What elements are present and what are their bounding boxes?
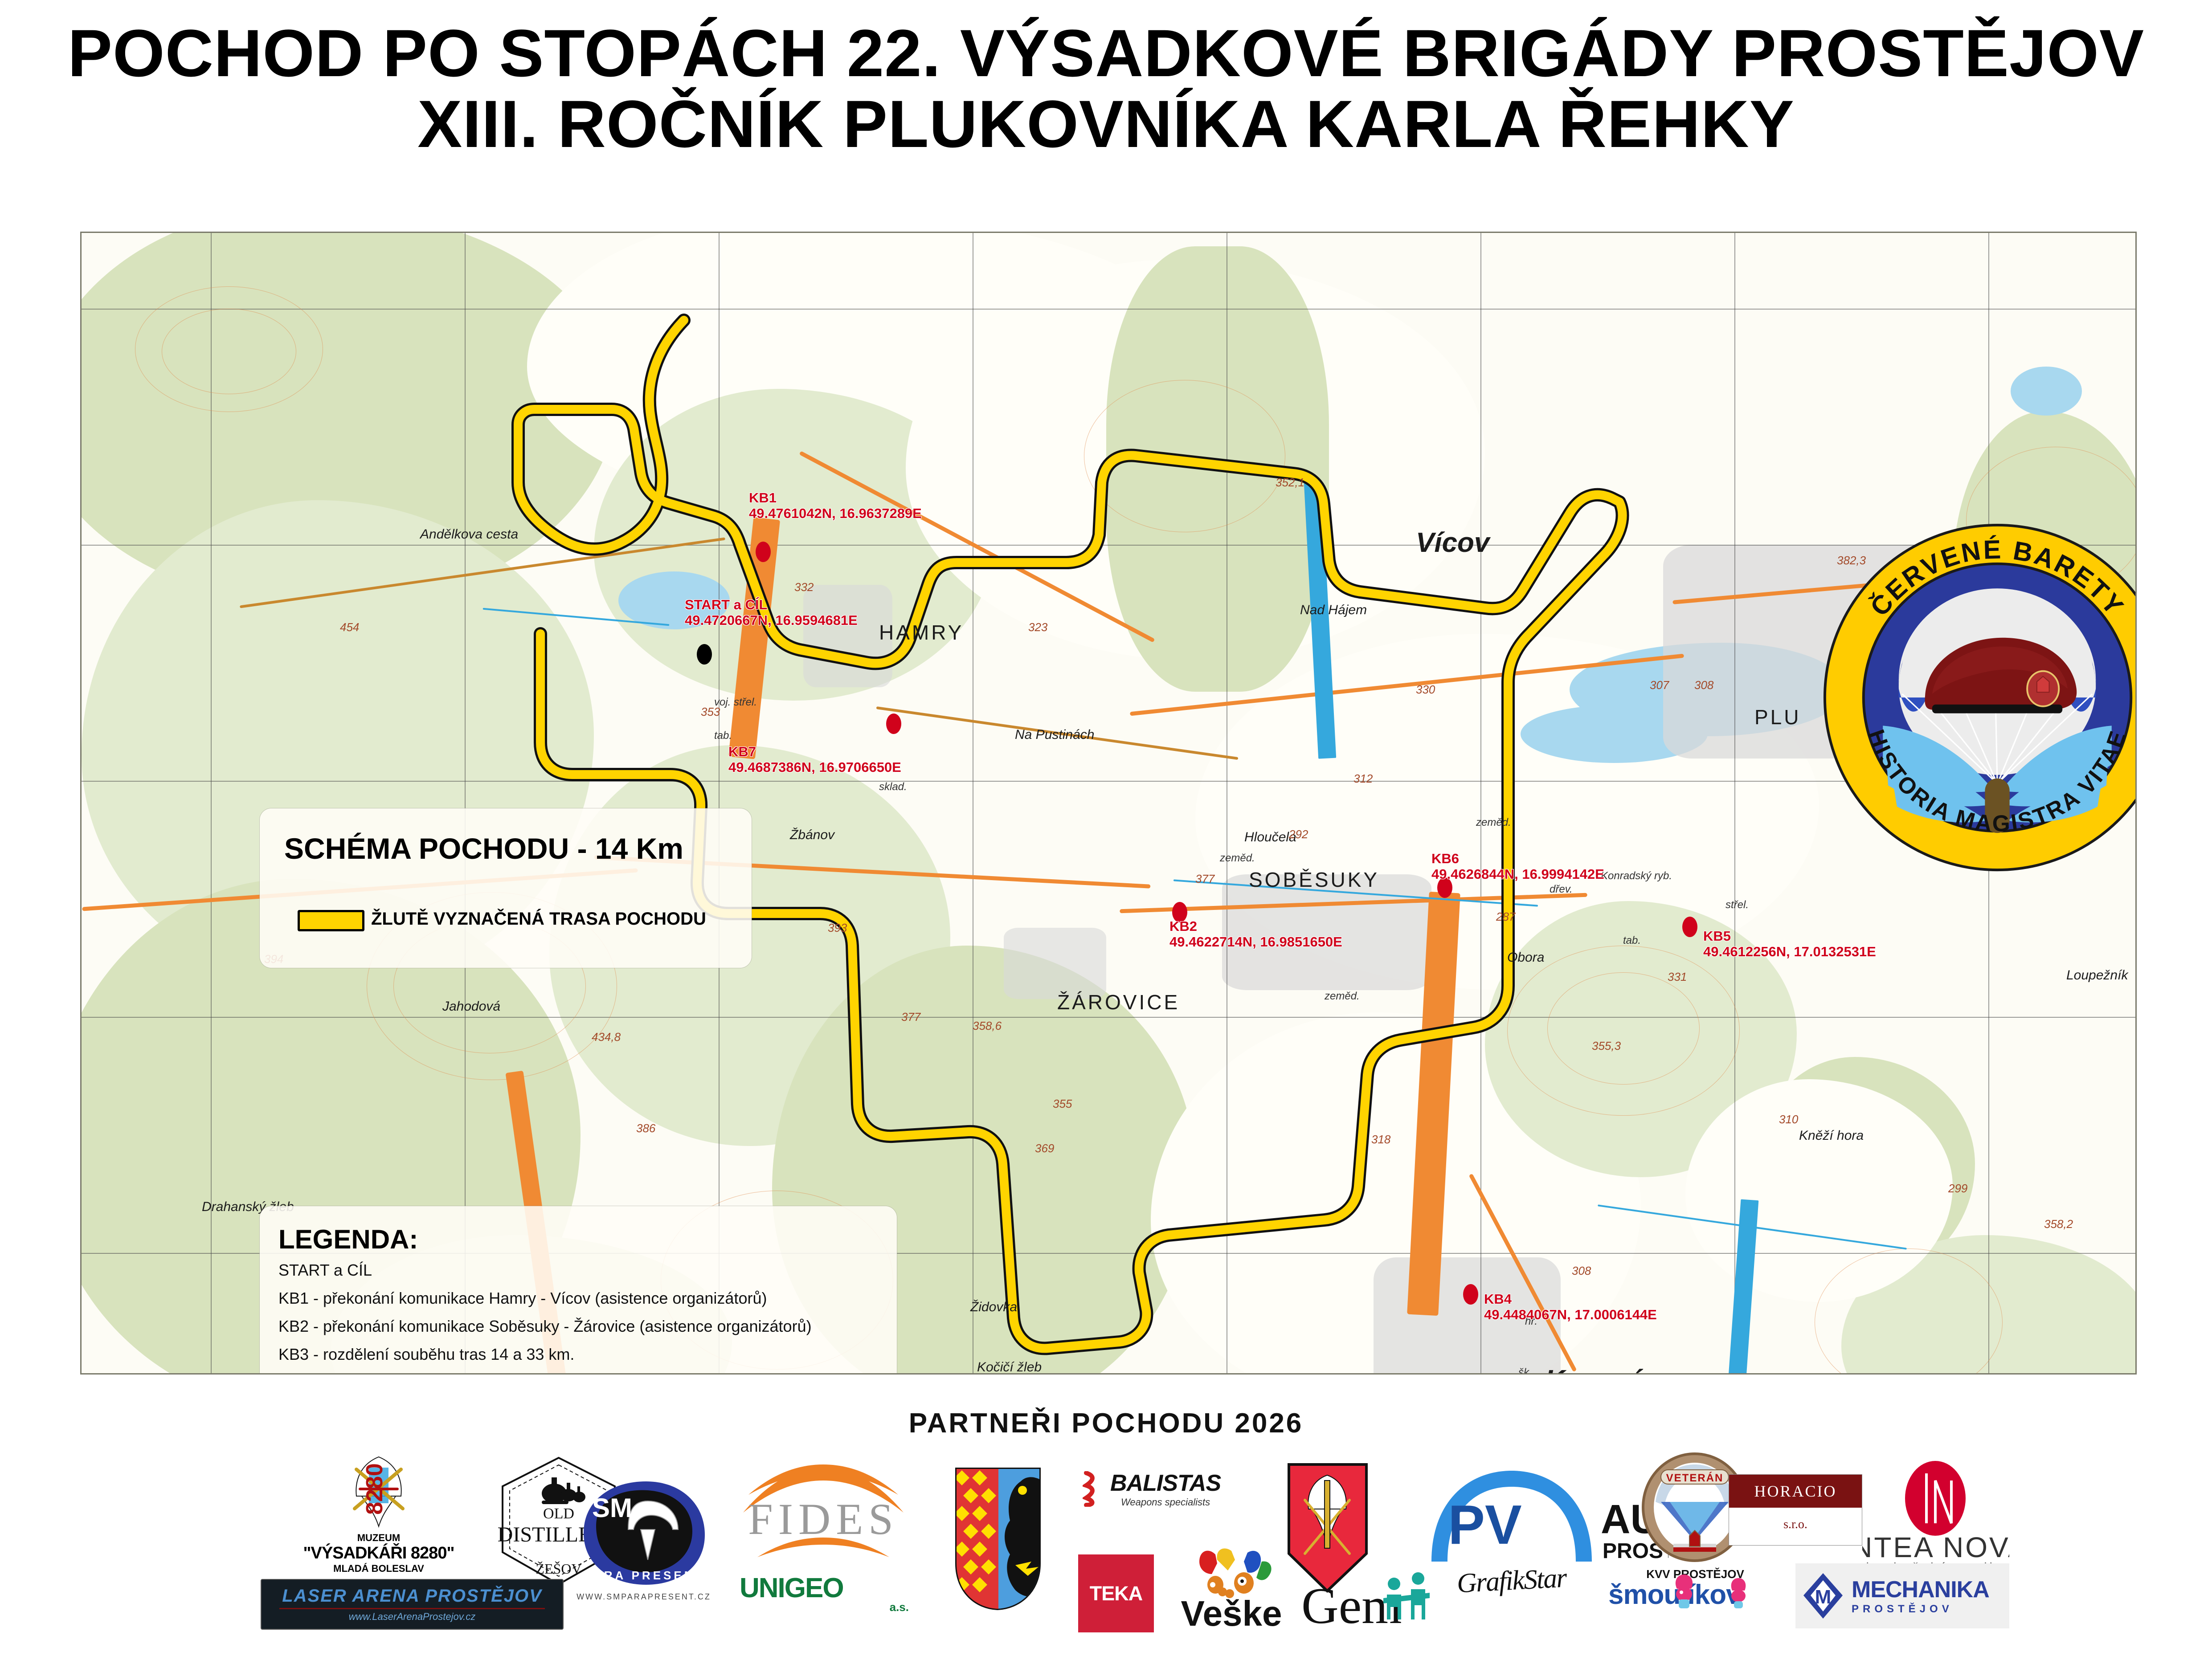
fides-wordmark: FIDES bbox=[748, 1494, 899, 1544]
map-village-label-2: SOBĚSUKY bbox=[1249, 868, 1379, 892]
waypoint-label-kb5: KB549.4612256N, 17.0132531E bbox=[1703, 929, 1876, 959]
map-elevation-16: 308 bbox=[1572, 1264, 1591, 1278]
map-elevation-12: 393 bbox=[828, 921, 847, 935]
smurf-icon-2 bbox=[1728, 1574, 1749, 1610]
cerveny-barety-logo: ČERVENÉ BARETY HISTORIA MAGISTRA VITAE bbox=[1821, 522, 2137, 873]
waypoint-label-kb7: KB749.4687386N, 16.9706650E bbox=[728, 744, 901, 775]
veteran-word: VETERÁN bbox=[1666, 1472, 1724, 1484]
waypoint-marker-start[interactable] bbox=[697, 644, 712, 665]
title-line-2: XIII. ROČNÍK PLUKOVNÍKA KARLA ŘEHKY bbox=[0, 89, 2212, 159]
map-elevation-2: 323 bbox=[1028, 620, 1047, 634]
waypoint-coords-kb6: 49.4626844N, 16.9994142E bbox=[1431, 867, 1604, 882]
svg-text:8280: 8280 bbox=[362, 1463, 388, 1515]
partner-logo-gemini[interactable]: Gem bbox=[1294, 1568, 1441, 1637]
map-feature-label-5: Loupežník bbox=[2066, 968, 2128, 983]
legend-list: START a CÍLKB1 - překonání komunikace Ha… bbox=[278, 1262, 884, 1375]
map-elevation-15: 407 bbox=[928, 1371, 947, 1375]
map-feature-label-31: šk. bbox=[1518, 1366, 1532, 1375]
mechanika-wordmark: MECHANIKA bbox=[1852, 1576, 1989, 1603]
sm-url: WWW.SMPARAPRESENT.CZ bbox=[566, 1592, 722, 1602]
waypoint-label-start: START a CÍL49.4720667N, 16.9594681E bbox=[685, 597, 858, 628]
map-elevation-33: 310 bbox=[1779, 1113, 1798, 1126]
waypoint-marker-kb4[interactable] bbox=[1463, 1284, 1478, 1305]
balistas-mark bbox=[1083, 1471, 1103, 1507]
map-feature-label-24: tab. bbox=[1623, 934, 1641, 947]
map-elevation-9: 386 bbox=[636, 1122, 655, 1135]
muzeum-line1: MUZEUM bbox=[285, 1532, 472, 1544]
waypoint-label-kb1: KB149.4761042N, 16.9637289E bbox=[749, 490, 922, 521]
waypoint-name-kb4: KB4 bbox=[1484, 1292, 1657, 1307]
waypoint-marker-kb1[interactable] bbox=[756, 542, 771, 562]
map-elevation-22: 292 bbox=[1289, 828, 1308, 841]
map-elevation-8: 355 bbox=[1053, 1097, 1072, 1111]
partner-logo-veske[interactable]: Veške bbox=[1176, 1546, 1292, 1637]
map-feature-label-23: tab. bbox=[714, 730, 732, 742]
muzeum-line2: "VÝSADKÁŘI 8280" bbox=[285, 1544, 472, 1563]
map-elevation-10: 369 bbox=[1035, 1142, 1054, 1155]
partner-logo-horacio[interactable]: HORACIO s.r.o. bbox=[1729, 1474, 1862, 1546]
map-feature-label-0: Nad Hájem bbox=[1300, 603, 1367, 618]
legend-title: LEGENDA: bbox=[278, 1224, 418, 1255]
map-feature-label-27: střel. bbox=[1725, 899, 1749, 911]
waypoint-coords-start: 49.4720667N, 16.9594681E bbox=[685, 613, 858, 628]
partner-logo-balistas[interactable]: BALISTAS Weapons specialists bbox=[1083, 1470, 1270, 1508]
map-feature-label-22: zeměd. bbox=[1325, 990, 1360, 1003]
map-village-label-0: Vícov bbox=[1416, 527, 1489, 559]
waypoint-name-kb1: KB1 bbox=[749, 490, 922, 506]
map-feature-label-18: sklad. bbox=[879, 781, 907, 793]
legend-item-1: KB1 - překonání komunikace Hamry - Vícov… bbox=[278, 1290, 884, 1306]
balistas-wordmark: BALISTAS bbox=[1110, 1470, 1221, 1497]
svg-text:M: M bbox=[1815, 1586, 1832, 1608]
map-feature-label-3: Žbánov bbox=[790, 828, 834, 843]
map-elevation-34: 331 bbox=[1668, 970, 1687, 984]
map-elevation-28: 454 bbox=[340, 620, 359, 634]
map-elevation-7: 355,3 bbox=[1592, 1039, 1621, 1053]
map-elevation-26: 352,1 bbox=[1276, 476, 1304, 489]
partner-logo-coat-of-arms[interactable] bbox=[951, 1465, 1045, 1615]
map-elevation-11: 434,8 bbox=[592, 1030, 621, 1044]
teka-wordmark: TEKA bbox=[1090, 1582, 1143, 1605]
pv-mark: PV bbox=[1448, 1494, 1521, 1556]
mechanika-city: PROSTĚJOV bbox=[1852, 1603, 1989, 1615]
map-elevation-25: 307 bbox=[1650, 678, 1669, 692]
gemini-wordmark: Gem bbox=[1301, 1578, 1402, 1635]
map-elevation-19: 358,2 bbox=[2044, 1217, 2073, 1231]
legend-item-2: KB2 - překonání komunikace Soběsuky - Žá… bbox=[278, 1318, 884, 1334]
waypoint-name-kb7: KB7 bbox=[728, 744, 901, 760]
map-elevation-17: 299 bbox=[1948, 1182, 1967, 1195]
horacio-suffix: s.r.o. bbox=[1729, 1508, 1862, 1545]
schema-box: SCHÉMA POCHODU - 14 Km ŽLUTĚ VYZNAČENÁ T… bbox=[260, 808, 752, 968]
waypoint-name-kb2: KB2 bbox=[1169, 919, 1342, 934]
laser-arena-url: www.LaserArenaProstejov.cz bbox=[266, 1611, 558, 1623]
schema-title: SCHÉMA POCHODU - 14 Km bbox=[284, 832, 683, 865]
balistas-tagline: Weapons specialists bbox=[1110, 1497, 1221, 1508]
map-elevation-5: 377 bbox=[901, 1010, 920, 1024]
map-elevation-23: 287 bbox=[1496, 910, 1515, 924]
map-feature-label-20: zeměd. bbox=[1220, 852, 1255, 865]
map-elevation-24: 312 bbox=[1353, 772, 1373, 786]
map-feature-label-16: Andělkova cesta bbox=[420, 527, 518, 542]
waypoint-name-kb6: KB6 bbox=[1431, 851, 1604, 867]
map-feature-label-4: Obora bbox=[1507, 950, 1544, 965]
route-color-swatch bbox=[298, 910, 364, 931]
waypoint-coords-kb7: 49.4687386N, 16.9706650E bbox=[728, 760, 901, 775]
map-elevation-0: 332 bbox=[794, 580, 814, 594]
waypoint-marker-kb5[interactable] bbox=[1682, 917, 1697, 937]
legend-item-0: START a CÍL bbox=[278, 1262, 884, 1278]
page-title: POCHOD PO STOPÁCH 22. VÝSADKOVÉ BRIGÁDY … bbox=[0, 18, 2212, 159]
partner-logo-teka[interactable]: TEKA bbox=[1078, 1554, 1154, 1632]
map-elevation-4: 377 bbox=[1195, 872, 1214, 886]
partners-heading: PARTNEŘI POCHODU 2026 bbox=[0, 1407, 2212, 1439]
partner-logo-muzeum-vysadkari[interactable]: 8280 MUZEUM "VÝSADKÁŘI 8280" MLADÁ BOLES… bbox=[285, 1450, 472, 1574]
waypoint-coords-kb1: 49.4761042N, 16.9637289E bbox=[749, 506, 922, 522]
map-elevation-32: 318 bbox=[1371, 1133, 1390, 1146]
partner-logo-smoulikov[interactable]: šmoulíkov bbox=[1608, 1579, 1773, 1611]
map-village-label-4: Krumsín bbox=[1545, 1364, 1657, 1375]
route-map[interactable]: VícovHAMRYSOBĚSUKYŽÁROVICEKrumsínPLUNad … bbox=[80, 232, 2137, 1375]
map-feature-label-21: zeměd. bbox=[1476, 816, 1511, 829]
legend-item-3: KB3 - rozdělení souběhu tras 14 a 33 km. bbox=[278, 1346, 884, 1362]
map-feature-label-8: Kočičí žleb bbox=[977, 1360, 1042, 1375]
partner-logo-laser-arena[interactable]: LASER ARENA PROSTĚJOV www.LaserArenaPros… bbox=[261, 1579, 564, 1630]
waypoint-coords-kb5: 49.4612256N, 17.0132531E bbox=[1703, 944, 1876, 960]
title-line-1: POCHOD PO STOPÁCH 22. VÝSADKOVÉ BRIGÁDY … bbox=[0, 18, 2212, 89]
intea-nova-wordmark: INTEA NOVA bbox=[1862, 1531, 2009, 1563]
map-feature-label-7: Židovka bbox=[970, 1300, 1017, 1315]
map-feature-label-6: Kněží hora bbox=[1799, 1128, 1864, 1143]
veske-wordmark: Veške bbox=[1181, 1594, 1282, 1633]
waypoint-coords-kb4: 49.4484067N, 17.0006144E bbox=[1484, 1307, 1657, 1323]
route-legend-label: ŽLUTĚ VYZNAČENÁ TRASA POCHODU bbox=[371, 909, 706, 929]
map-feature-label-28: dřev. bbox=[1550, 883, 1573, 896]
map-feature-label-17: voj. střel. bbox=[714, 696, 757, 709]
mechanika-mark: M bbox=[1802, 1571, 1844, 1620]
map-elevation-6: 358,6 bbox=[973, 1019, 1002, 1033]
smurf-icon bbox=[1672, 1571, 1697, 1611]
waypoint-label-kb4: KB449.4484067N, 17.0006144E bbox=[1484, 1292, 1657, 1322]
para-present-label: PARA PRESENT bbox=[584, 1569, 705, 1582]
laser-arena-name: LASER ARENA PROSTĚJOV bbox=[266, 1586, 558, 1606]
partner-logo-sm-para-present[interactable]: SM PARA PRESENT WWW.SMPARAPRESENT.CZ bbox=[566, 1474, 722, 1602]
map-village-label-1: HAMRY bbox=[879, 620, 964, 644]
horacio-wordmark: HORACIO bbox=[1729, 1475, 1862, 1508]
unigeo-wordmark: UNIGEO bbox=[740, 1572, 909, 1604]
map-feature-label-29: Konradský ryb. bbox=[1601, 870, 1672, 882]
waypoint-marker-kb7[interactable] bbox=[886, 714, 901, 734]
map-village-label-5: PLU bbox=[1754, 705, 1801, 729]
map-elevation-3: 330 bbox=[1416, 683, 1435, 697]
muzeum-line3: MLADÁ BOLESLAV bbox=[285, 1563, 472, 1574]
map-feature-label-1: Na Pustinách bbox=[1015, 727, 1094, 742]
partner-logo-pv-auto[interactable]: PV AUTO PROSTĚJOV bbox=[1419, 1465, 1668, 1570]
map-elevation-1: 353 bbox=[701, 705, 720, 719]
partner-logo-fides[interactable]: FIDES bbox=[731, 1461, 918, 1566]
map-elevation-35: 308 bbox=[1694, 678, 1713, 692]
partner-logo-intea-nova[interactable]: INTEA NOVA kuchyňské studio bbox=[1862, 1461, 2009, 1579]
legend-box: LEGENDA: START a CÍLKB1 - překonání komu… bbox=[260, 1206, 897, 1375]
sm-mark: SM bbox=[592, 1493, 632, 1523]
waypoint-name-kb5: KB5 bbox=[1703, 929, 1876, 944]
waypoint-label-kb6: KB649.4626844N, 16.9994142E bbox=[1431, 851, 1604, 882]
partner-logo-unigeo[interactable]: UNIGEO a.s. bbox=[740, 1572, 909, 1614]
waypoint-coords-kb2: 49.4622714N, 16.9851650E bbox=[1169, 934, 1342, 950]
partner-logo-mechanika[interactable]: M MECHANIKA PROSTĚJOV bbox=[1795, 1563, 2009, 1628]
waypoint-label-kb2: KB249.4622714N, 16.9851650E bbox=[1169, 919, 1342, 950]
map-village-label-3: ŽÁROVICE bbox=[1057, 990, 1180, 1014]
map-feature-label-15: Jahodová bbox=[442, 999, 500, 1014]
waypoint-name-start: START a CÍL bbox=[685, 597, 858, 613]
